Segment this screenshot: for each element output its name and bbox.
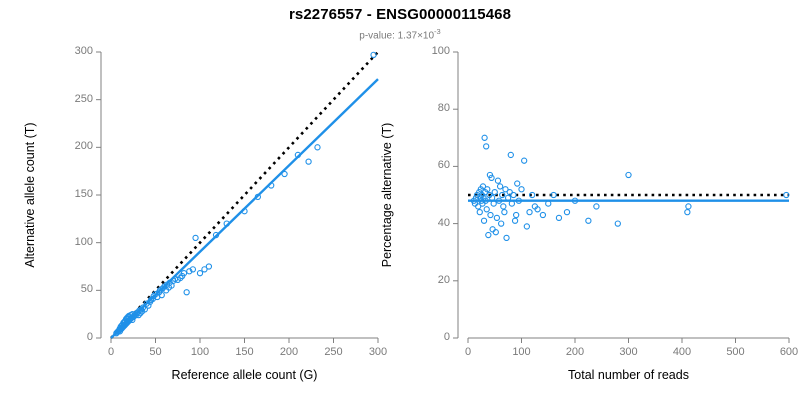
y-tick-label: 20 [388,274,450,286]
data-point [371,52,376,57]
data-point [499,221,504,226]
data-point [206,264,211,269]
data-point [586,218,591,223]
x-tick-label: 500 [706,346,766,358]
data-point [498,184,503,189]
x-tick-label: 300 [599,346,659,358]
data-point [504,235,509,240]
data-point [484,144,489,149]
data-point [527,210,532,215]
y-tick-label: 50 [31,283,93,295]
data-point [524,224,529,229]
data-point [594,204,599,209]
right-plot-canvas [400,0,800,400]
data-point [686,204,691,209]
data-point [685,210,690,215]
data-point [494,215,499,220]
x-tick-label: 300 [348,346,408,358]
data-point [512,218,517,223]
data-point [508,152,513,157]
y-tick-label: 40 [388,217,450,229]
y-tick-label: 0 [388,331,450,343]
right-x-axis-title: Total number of reads [468,368,789,382]
x-tick-label: 100 [492,346,552,358]
data-point [484,207,489,212]
data-point [615,221,620,226]
figure-root: rs2276557 - ENSG00000115468 p-value: 1.3… [0,0,800,400]
data-point [519,187,524,192]
y-tick-label: 100 [31,236,93,248]
y-tick-label: 200 [31,140,93,152]
data-point [486,232,491,237]
y-tick-label: 150 [31,188,93,200]
x-tick-label: 600 [759,346,800,358]
data-point [514,212,519,217]
right-scatter-panel: Total number of reads Percentage alterna… [400,0,800,400]
y-tick-label: 300 [31,45,93,57]
data-point [282,171,287,176]
y-tick-label: 250 [31,93,93,105]
data-point [488,212,493,217]
data-point [495,178,500,183]
scatter-points [114,52,376,336]
data-point [556,215,561,220]
scatter-points [471,135,789,240]
data-point [511,192,516,197]
data-point [502,210,507,215]
y-tick-label: 60 [388,159,450,171]
data-point [482,135,487,140]
data-point [564,210,569,215]
data-point [501,204,506,209]
y-tick-label: 100 [388,45,450,57]
data-point [626,172,631,177]
left-x-axis-title: Reference allele count (G) [111,368,378,382]
data-point [193,235,198,240]
data-point [493,230,498,235]
data-point [315,145,320,150]
data-point [490,227,495,232]
data-point [184,290,189,295]
data-point [540,212,545,217]
data-point [477,210,482,215]
data-point [481,218,486,223]
data-point [492,190,497,195]
x-tick-label: 400 [652,346,712,358]
data-point [515,181,520,186]
y-tick-label: 0 [31,331,93,343]
y-tick-label: 80 [388,102,450,114]
left-scatter-panel: Reference allele count (G) Alternative a… [0,0,400,400]
x-tick-label: 0 [438,346,498,358]
data-point [197,271,202,276]
data-point [306,159,311,164]
data-point [522,158,527,163]
x-tick-label: 200 [545,346,605,358]
right-y-axis-title: Percentage alternative (T) [380,52,394,338]
